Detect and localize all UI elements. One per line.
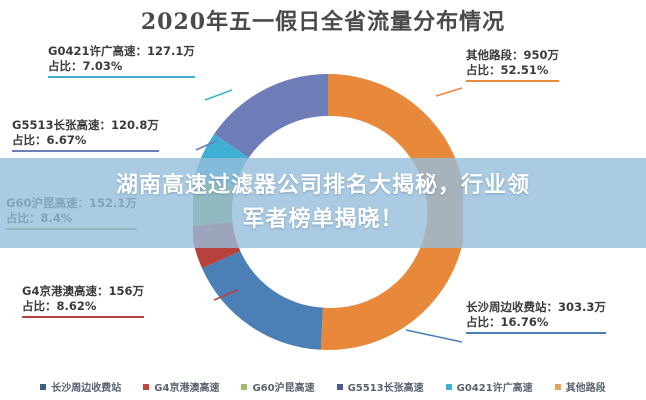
callout-changsha-zhoubian: 长沙周边收费站：303.3万 占比：16.76% — [466, 300, 606, 334]
callout-share: 占比：16.76% — [466, 315, 606, 330]
overlay-line-1: 湖南高速过滤器公司排名大揭秘，行业领 — [116, 169, 530, 203]
chart-legend: 长沙周边收费站 G4京港澳高速 G60沪昆高速 G5513长张高速 G0421许… — [0, 379, 646, 394]
overlay-line-2: 军者榜单揭晓！ — [242, 203, 403, 237]
chart-canvas: 2020年五一假日全省流量分布情况 — [0, 0, 646, 400]
legend-swatch-icon — [337, 384, 343, 390]
legend-item-g4-jinggangao[interactable]: G4京港澳高速 — [143, 379, 219, 394]
slice-changsha — [202, 251, 323, 350]
callout-rule — [48, 76, 195, 78]
callout-name: 长沙周边收费站：303.3万 — [466, 300, 606, 315]
callout-rule — [12, 150, 159, 152]
legend-swatch-icon — [446, 384, 452, 390]
legend-item-g0421-xuguang[interactable]: G0421许广高速 — [446, 379, 533, 394]
callout-rule — [22, 316, 144, 318]
legend-item-changsha[interactable]: 长沙周边收费站 — [40, 379, 121, 394]
chart-title: 2020年五一假日全省流量分布情况 — [0, 4, 646, 36]
callout-name: 其他路段：950万 — [466, 48, 559, 63]
legend-swatch-icon — [241, 384, 247, 390]
callout-name: G0421许广高速：127.1万 — [48, 44, 195, 59]
legend-swatch-icon — [143, 384, 149, 390]
callout-g0421-xuguang: G0421许广高速：127.1万 占比：7.03% — [48, 44, 195, 78]
callout-share: 占比：6.67% — [12, 133, 159, 148]
slice-changzhang — [214, 74, 328, 158]
legend-label: 其他路段 — [566, 379, 606, 394]
callout-share: 占比：7.03% — [48, 59, 195, 74]
legend-label: G4京港澳高速 — [154, 379, 219, 394]
legend-item-g5513-changzhang[interactable]: G5513长张高速 — [337, 379, 424, 394]
legend-label: G5513长张高速 — [348, 379, 424, 394]
callout-rule — [466, 80, 559, 82]
callout-g5513-changzhang: G5513长张高速：120.8万 占比：6.67% — [12, 118, 159, 152]
callout-share: 占比：8.62% — [22, 299, 144, 314]
callout-share: 占比：52.51% — [466, 63, 559, 78]
legend-label: G60沪昆高速 — [252, 379, 314, 394]
callout-rule — [466, 332, 606, 334]
legend-label: 长沙周边收费站 — [51, 379, 121, 394]
legend-label: G0421许广高速 — [457, 379, 533, 394]
overlay-banner-text: 湖南高速过滤器公司排名大揭秘，行业领 军者榜单揭晓！ — [0, 163, 646, 243]
callout-g4-jinggangao: G4京港澳高速：156万 占比：8.62% — [22, 284, 144, 318]
callout-name: G5513长张高速：120.8万 — [12, 118, 159, 133]
legend-swatch-icon — [555, 384, 561, 390]
legend-item-g60-hukun[interactable]: G60沪昆高速 — [241, 379, 314, 394]
legend-swatch-icon — [40, 384, 46, 390]
legend-item-qita[interactable]: 其他路段 — [555, 379, 606, 394]
callout-qita-luduan: 其他路段：950万 占比：52.51% — [466, 48, 559, 82]
callout-name: G4京港澳高速：156万 — [22, 284, 144, 299]
